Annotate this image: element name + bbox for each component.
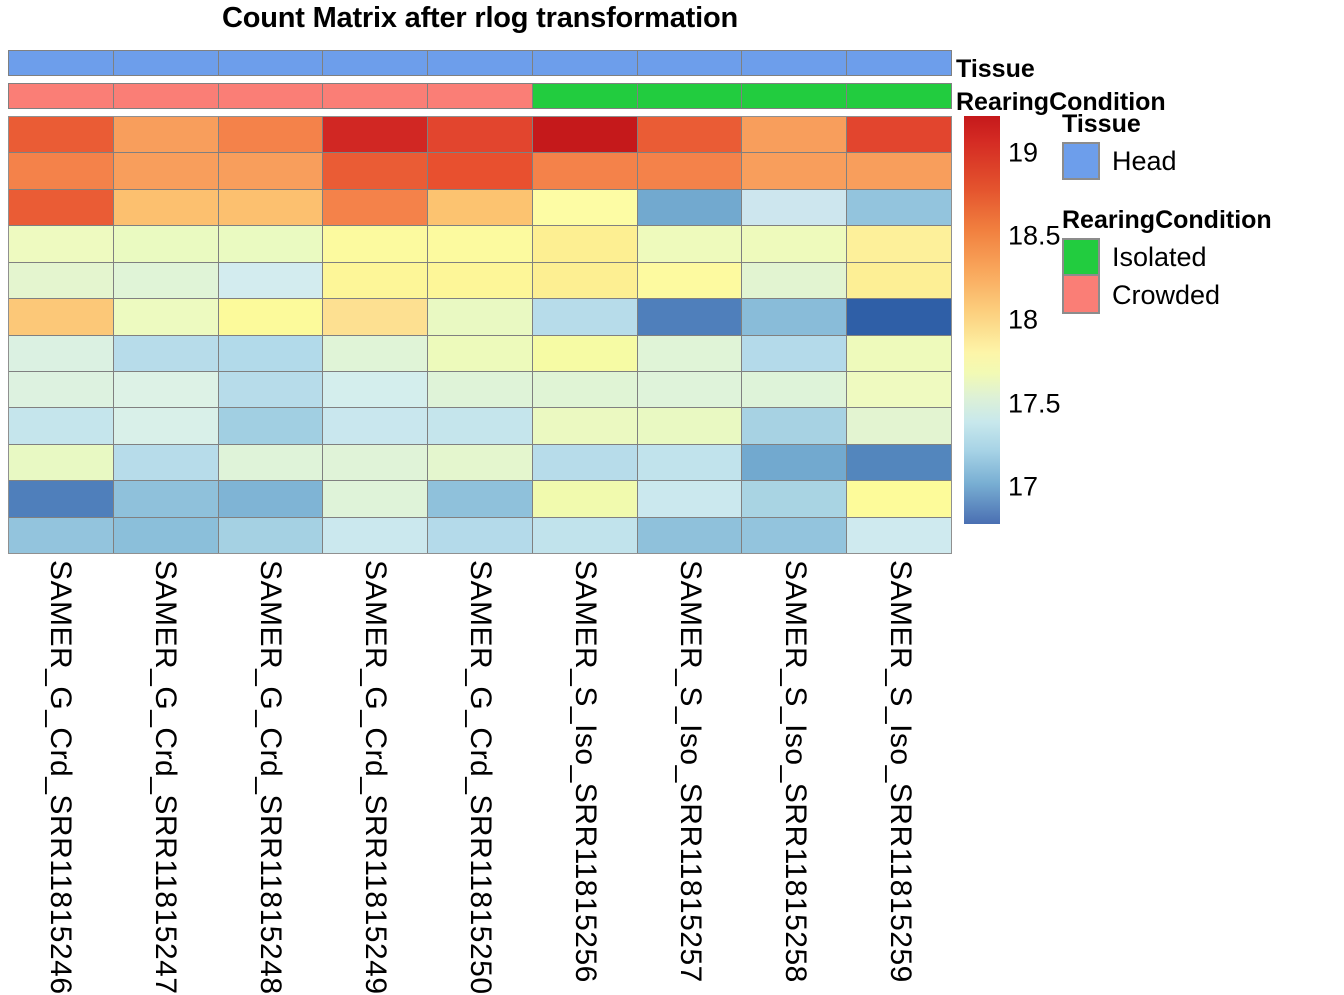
annotation-row-tissue <box>8 50 952 76</box>
heatmap-cell <box>742 153 847 188</box>
annotation-cell-tissue <box>638 51 743 75</box>
heatmap-cell <box>323 481 428 516</box>
column-label: SAMER_S_Iso_SRR11815258 <box>778 560 812 983</box>
heatmap-cell <box>638 263 743 298</box>
annotation-cell-tissue <box>742 51 847 75</box>
heatmap-cell <box>323 153 428 188</box>
annotation-row-rearingcondition <box>8 83 952 109</box>
colorbar: 1918.51817.517 <box>964 116 1000 524</box>
annotation-cell-tissue <box>428 51 533 75</box>
heatmap-cell <box>323 263 428 298</box>
column-label-slot: SAMER_G_Crd_SRR11815247 <box>113 556 218 956</box>
annotation-cell-tissue <box>9 51 114 75</box>
heatmap-cell <box>219 481 324 516</box>
heatmap-cell <box>742 336 847 371</box>
heatmap-cell <box>638 445 743 480</box>
heatmap-cell <box>742 190 847 225</box>
heatmap-cell <box>114 372 219 407</box>
heatmap-cell <box>428 226 533 261</box>
heatmap-cell <box>638 336 743 371</box>
heatmap-row <box>9 481 951 517</box>
heatmap-cell <box>638 190 743 225</box>
heatmap-row <box>9 336 951 372</box>
heatmap-cell <box>742 226 847 261</box>
legend-swatch <box>1062 276 1100 314</box>
annotation-cell-tissue <box>323 51 428 75</box>
heatmap-cell <box>323 336 428 371</box>
heatmap-cell <box>742 445 847 480</box>
heatmap-cell <box>114 481 219 516</box>
heatmap-cell <box>533 445 638 480</box>
heatmap-cell <box>428 117 533 152</box>
colorbar-tick-label: 19 <box>1008 137 1038 168</box>
heatmap-cell <box>533 153 638 188</box>
heatmap-cell <box>847 299 951 334</box>
legend-entry[interactable]: Crowded <box>1062 276 1272 314</box>
heatmap-cell <box>114 445 219 480</box>
heatmap-cell <box>533 481 638 516</box>
heatmap-cell <box>742 299 847 334</box>
annotation-cell-rearingcondition <box>533 84 638 108</box>
heatmap-cell <box>742 481 847 516</box>
colorbar-tick-label: 18.5 <box>1008 221 1061 252</box>
heatmap-cell <box>847 226 951 261</box>
heatmap-cell <box>9 153 114 188</box>
heatmap-cell <box>114 336 219 371</box>
heatmap-cell <box>219 190 324 225</box>
colorbar-tick-label: 17.5 <box>1008 388 1061 419</box>
legend-title: RearingCondition <box>1062 206 1272 235</box>
column-labels: SAMER_G_Crd_SRR11815246SAMER_G_Crd_SRR11… <box>8 556 952 956</box>
heatmap-cell <box>638 117 743 152</box>
legend-entry[interactable]: Head <box>1062 142 1177 180</box>
heatmap-row <box>9 299 951 335</box>
column-label: SAMER_G_Crd_SRR11815249 <box>358 560 392 995</box>
heatmap-cell <box>428 153 533 188</box>
heatmap-cell <box>638 153 743 188</box>
heatmap-cell <box>428 336 533 371</box>
heatmap-cell <box>847 445 951 480</box>
heatmap-cell <box>638 518 743 553</box>
heatmap-cell <box>847 153 951 188</box>
column-label: SAMER_G_Crd_SRR11815250 <box>463 560 497 995</box>
heatmap-cell <box>847 408 951 443</box>
column-label: SAMER_G_Crd_SRR11815247 <box>148 560 182 995</box>
heatmap-cell <box>9 263 114 298</box>
heatmap-cell <box>323 190 428 225</box>
column-label: SAMER_S_Iso_SRR11815256 <box>568 560 602 983</box>
heatmap-row <box>9 226 951 262</box>
column-label-slot: SAMER_S_Iso_SRR11815259 <box>847 556 952 956</box>
heatmap-cell <box>9 408 114 443</box>
column-label: SAMER_S_Iso_SRR11815259 <box>883 560 917 983</box>
legend-rearingcondition: RearingConditionIsolatedCrowded <box>1062 206 1272 314</box>
colorbar-gradient <box>964 116 1000 524</box>
annotation-cell-rearingcondition <box>847 84 951 108</box>
heatmap-cell <box>9 445 114 480</box>
heatmap-cell <box>114 190 219 225</box>
heatmap-cell <box>638 481 743 516</box>
heatmap-cell <box>533 408 638 443</box>
heatmap-cell <box>742 518 847 553</box>
heatmap-cell <box>533 518 638 553</box>
annotation-row-label-tissue: Tissue <box>956 55 1035 84</box>
heatmap-cell <box>219 263 324 298</box>
legend-title: Tissue <box>1062 110 1177 139</box>
legend-swatch <box>1062 142 1100 180</box>
heatmap-cell <box>533 226 638 261</box>
heatmap-cell <box>323 226 428 261</box>
heatmap-cell <box>847 372 951 407</box>
heatmap-cell <box>219 336 324 371</box>
legend-entry-label: Head <box>1112 146 1177 177</box>
annotation-cell-rearingcondition <box>638 84 743 108</box>
heatmap-cell <box>323 518 428 553</box>
heatmap-cell <box>428 372 533 407</box>
legend-swatch <box>1062 238 1100 276</box>
heatmap-cell <box>428 408 533 443</box>
heatmap-cell <box>638 408 743 443</box>
heatmap-cell <box>114 408 219 443</box>
heatmap-cell <box>533 299 638 334</box>
page-title: Count Matrix after rlog transformation <box>0 2 960 35</box>
column-label: SAMER_S_Iso_SRR11815257 <box>673 560 707 983</box>
annotation-cell-rearingcondition <box>428 84 533 108</box>
heatmap-cell <box>428 445 533 480</box>
column-label-slot: SAMER_G_Crd_SRR11815246 <box>8 556 113 956</box>
legend-entry[interactable]: Isolated <box>1062 238 1272 276</box>
column-label-slot: SAMER_S_Iso_SRR11815257 <box>637 556 742 956</box>
heatmap-row <box>9 445 951 481</box>
column-label-slot: SAMER_G_Crd_SRR11815249 <box>323 556 428 956</box>
heatmap-cell <box>847 336 951 371</box>
heatmap-cell <box>428 518 533 553</box>
heatmap-cell <box>533 336 638 371</box>
heatmap-cell <box>219 226 324 261</box>
annotation-cell-rearingcondition <box>9 84 114 108</box>
heatmap-row <box>9 408 951 444</box>
heatmap-cell <box>219 117 324 152</box>
heatmap-cell <box>114 518 219 553</box>
annotation-cell-rearingcondition <box>219 84 324 108</box>
heatmap-row <box>9 518 951 553</box>
heatmap-cell <box>742 117 847 152</box>
annotation-cell-rearingcondition <box>114 84 219 108</box>
heatmap-cell <box>114 263 219 298</box>
heatmap-cell <box>742 372 847 407</box>
heatmap-cell <box>9 372 114 407</box>
column-label-slot: SAMER_S_Iso_SRR11815258 <box>742 556 847 956</box>
heatmap-panel <box>8 50 952 554</box>
heatmap-cell <box>9 299 114 334</box>
heatmap-row <box>9 190 951 226</box>
heatmap-row <box>9 372 951 408</box>
heatmap-cell <box>847 190 951 225</box>
annotation-cell-tissue <box>219 51 324 75</box>
heatmap-cell <box>428 263 533 298</box>
heatmap-cell <box>638 372 743 407</box>
legend-entry-label: Isolated <box>1112 242 1207 273</box>
heatmap-cell <box>638 226 743 261</box>
heatmap-cell <box>323 408 428 443</box>
heatmap-row <box>9 117 951 153</box>
annotation-cell-rearingcondition <box>323 84 428 108</box>
heatmap-cell <box>219 372 324 407</box>
heatmap-cell <box>638 299 743 334</box>
heatmap-cell <box>323 117 428 152</box>
heatmap-cell <box>9 481 114 516</box>
heatmap-matrix <box>8 116 952 554</box>
column-label: SAMER_G_Crd_SRR11815248 <box>253 560 287 995</box>
heatmap-cell <box>742 408 847 443</box>
legend-entry-label: Crowded <box>1112 280 1220 311</box>
heatmap-cell <box>847 481 951 516</box>
heatmap-cell <box>9 190 114 225</box>
heatmap-cell <box>219 445 324 480</box>
heatmap-cell <box>9 226 114 261</box>
heatmap-cell <box>219 153 324 188</box>
heatmap-cell <box>9 117 114 152</box>
heatmap-cell <box>114 299 219 334</box>
heatmap-cell <box>742 263 847 298</box>
heatmap-cell <box>9 336 114 371</box>
column-label: SAMER_G_Crd_SRR11815246 <box>43 560 77 995</box>
heatmap-cell <box>428 299 533 334</box>
colorbar-tick-label: 17 <box>1008 472 1038 503</box>
annotation-cell-rearingcondition <box>742 84 847 108</box>
heatmap-cell <box>847 263 951 298</box>
heatmap-row <box>9 263 951 299</box>
heatmap-cell <box>9 518 114 553</box>
heatmap-cell <box>428 190 533 225</box>
heatmap-cell <box>533 190 638 225</box>
heatmap-cell <box>323 299 428 334</box>
heatmap-cell <box>219 299 324 334</box>
annotation-cell-tissue <box>533 51 638 75</box>
annotation-cell-tissue <box>114 51 219 75</box>
heatmap-cell <box>114 226 219 261</box>
heatmap-row <box>9 153 951 189</box>
heatmap-cell <box>219 518 324 553</box>
heatmap-cell <box>323 445 428 480</box>
colorbar-tick-label: 18 <box>1008 305 1038 336</box>
heatmap-cell <box>428 481 533 516</box>
heatmap-cell <box>114 117 219 152</box>
heatmap-cell <box>219 408 324 443</box>
heatmap-cell <box>323 372 428 407</box>
heatmap-cell <box>847 518 951 553</box>
heatmap-cell <box>114 153 219 188</box>
legend-tissue: TissueHead <box>1062 110 1177 180</box>
heatmap-cell <box>847 117 951 152</box>
heatmap-cell <box>533 117 638 152</box>
column-label-slot: SAMER_G_Crd_SRR11815248 <box>218 556 323 956</box>
heatmap-cell <box>533 372 638 407</box>
column-label-slot: SAMER_S_Iso_SRR11815256 <box>532 556 637 956</box>
column-label-slot: SAMER_G_Crd_SRR11815250 <box>428 556 533 956</box>
heatmap-cell <box>533 263 638 298</box>
annotation-cell-tissue <box>847 51 951 75</box>
